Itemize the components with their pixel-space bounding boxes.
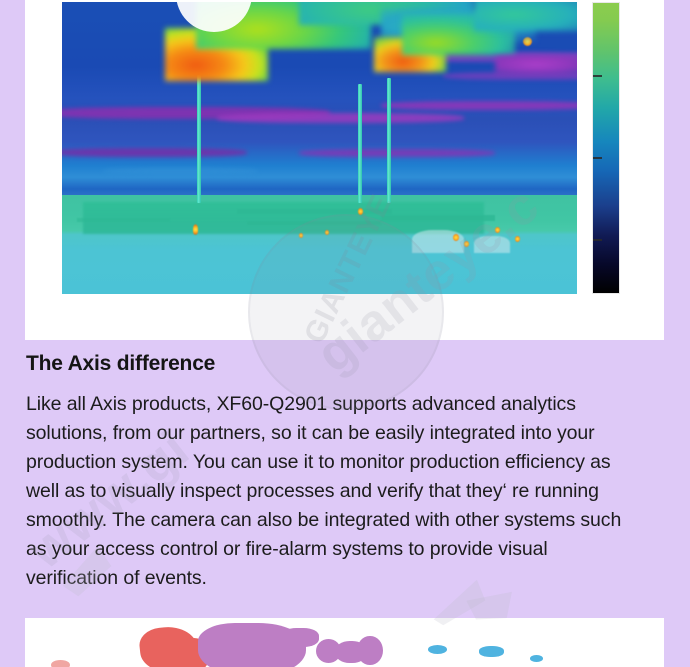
thermal-wisp (495, 55, 577, 75)
plant-tank (474, 236, 510, 254)
section-heading: The Axis difference (26, 352, 641, 376)
thermal-hotspot (515, 236, 520, 242)
plant-structure (77, 218, 170, 222)
map-landmass (281, 628, 319, 648)
thermal-hotspot (193, 224, 198, 235)
content-block: The Axis difference Like all Axis produc… (26, 352, 641, 593)
smokestack (197, 75, 201, 203)
thermal-cloud-band (299, 149, 495, 157)
plant-structure (247, 221, 381, 225)
thermal-plume (474, 2, 577, 31)
temperature-colorbar (592, 2, 620, 294)
map-landmass (357, 636, 383, 665)
thermal-cloud-band (103, 168, 258, 174)
thermal-hotspot (299, 233, 303, 238)
map-landmass (51, 660, 70, 667)
section-paragraph: Like all Axis products, XF60-Q2901 suppo… (26, 390, 641, 593)
thermal-cloud-band (62, 148, 247, 157)
smokestack (358, 84, 362, 204)
thermal-cloud-band (381, 101, 577, 110)
colorbar-tick (593, 239, 602, 241)
colorbar-tick (593, 75, 602, 77)
thermal-hotspot (358, 208, 363, 215)
map-landmass (479, 646, 505, 657)
thermal-image (62, 2, 577, 294)
bottom-image-card (25, 618, 664, 667)
hero-image-card (25, 0, 664, 340)
thermal-cloud-band (217, 113, 464, 123)
thermal-hotspot (495, 227, 500, 233)
map-landmass (428, 645, 447, 654)
thermal-hotspot (325, 230, 329, 235)
plant-structure (381, 215, 494, 221)
smokestack (387, 78, 391, 204)
map-landmass (530, 655, 543, 662)
colorbar-tick (593, 157, 602, 159)
plant-structure (237, 209, 392, 214)
